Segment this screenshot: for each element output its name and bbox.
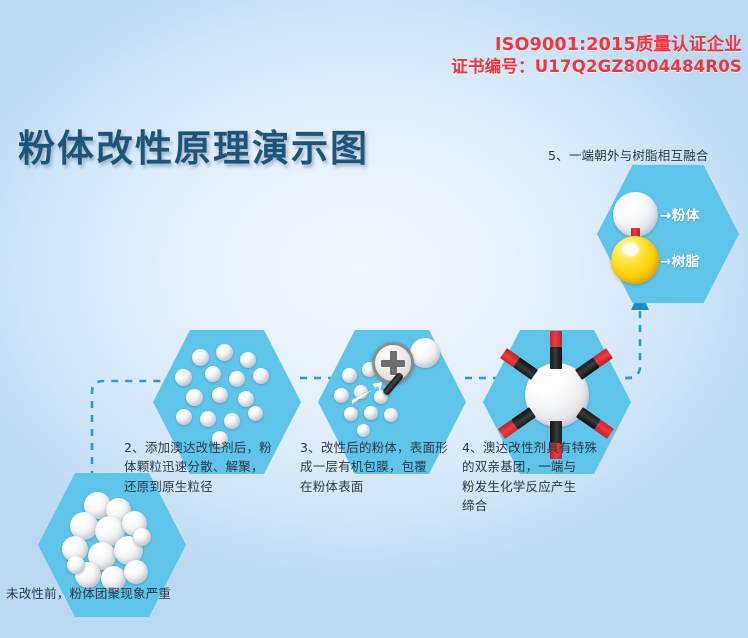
- step-2-caption: 2、添加澳达改性剂后，粉 体颗粒迅速分散、解聚， 还原到原生粒径: [124, 438, 274, 496]
- step-5-caption: 5、一端朝外与树脂相互融合: [548, 146, 709, 165]
- resin-sphere: [611, 236, 659, 284]
- page-title: 粉体改性原理演示图: [18, 118, 369, 172]
- step-1-caption: 未改性前，粉体团聚现象严重: [6, 584, 171, 603]
- zoom-pointer-arrow: [352, 382, 392, 408]
- certification-line-2: 证书编号：U17Q2GZ8004484R0S: [451, 56, 742, 77]
- step-5-hexagon: [597, 162, 739, 306]
- certification-line-1: ISO9001:2015质量认证企业: [451, 34, 742, 56]
- step-3-caption: 3、改性后的粉体，表面形 成一层有机包膜，包覆 在粉体表面: [300, 438, 450, 496]
- resin-label: →树脂: [660, 250, 700, 270]
- step-4-caption: 4、澳达改性剂具有特殊 的双亲基团，一端与 粉发生化学反应产生 缔合: [462, 438, 622, 516]
- plus-vertical: [390, 351, 397, 375]
- diagram-canvas: ISO9001:2015质量认证企业 证书编号：U17Q2GZ8004484R0…: [0, 0, 748, 638]
- magnified-coated-particle: [410, 338, 440, 368]
- certification-text: ISO9001:2015质量认证企业 证书编号：U17Q2GZ8004484R0…: [451, 34, 742, 78]
- powder-label: →粉体: [660, 204, 700, 224]
